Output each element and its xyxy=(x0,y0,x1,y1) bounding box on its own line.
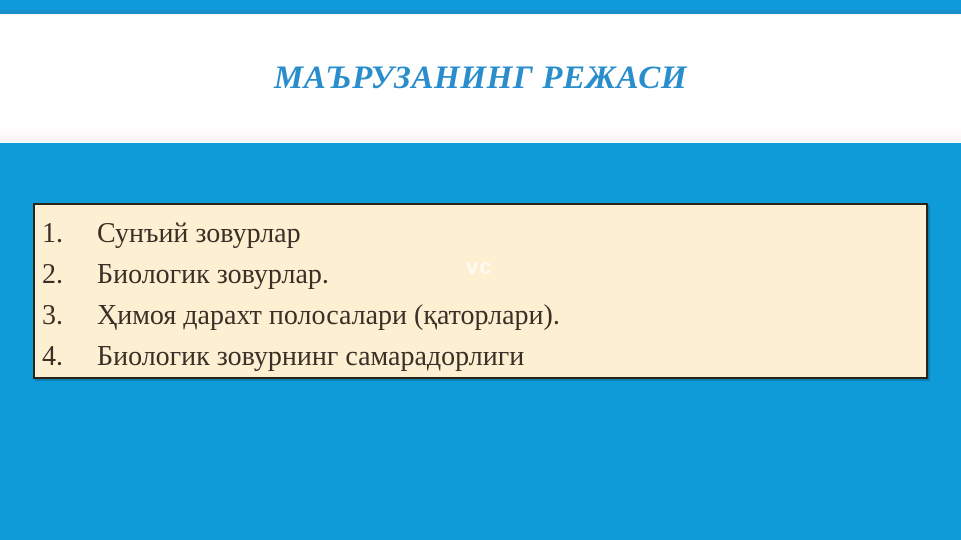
page-title: МАЪРУЗАНИНГ РЕЖАСИ xyxy=(0,58,961,98)
top-accent-bar-light xyxy=(0,0,961,10)
list-item: 4. Биологик зовурнинг самарадорлиги xyxy=(35,336,926,377)
slide-background-lower xyxy=(0,379,961,540)
list-item-label: Сунъий зовурлар xyxy=(97,213,926,254)
list-item-label: Ҳимоя дарахт полосалари (қаторлари). xyxy=(97,295,926,336)
list-item-number: 4. xyxy=(35,336,97,377)
list-item: 3. Ҳимоя дарахт полосалари (қаторлари). xyxy=(35,295,926,336)
list-item-number: 2. xyxy=(35,254,97,295)
header-band-bottom-tint xyxy=(0,127,961,143)
agenda-list: 1. Сунъий зовурлар 2. Биологик зовурлар.… xyxy=(35,213,926,377)
list-item-number: 3. xyxy=(35,295,97,336)
content-callout-box: 1. Сунъий зовурлар 2. Биологик зовурлар.… xyxy=(33,203,928,379)
list-item: 2. Биологик зовурлар. xyxy=(35,254,926,295)
list-item-label: Биологик зовурлар. xyxy=(97,254,926,295)
list-item-label: Биологик зовурнинг самарадорлиги xyxy=(97,336,926,377)
list-item: 1. Сунъий зовурлар xyxy=(35,213,926,254)
list-item-number: 1. xyxy=(35,213,97,254)
presentation-slide: МАЪРУЗАНИНГ РЕЖАСИ 1. Сунъий зовурлар 2.… xyxy=(0,0,961,540)
